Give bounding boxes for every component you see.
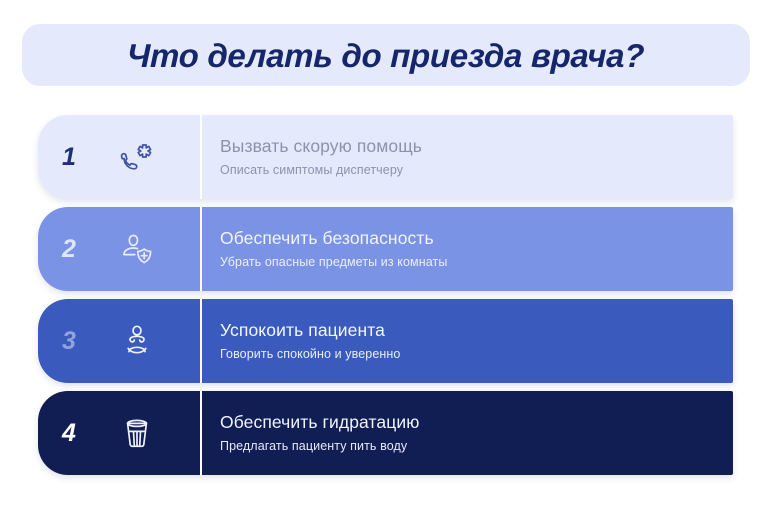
step-4-title: Обеспечить гидратацию [220,413,721,431]
step-2-body: Обеспечить безопасность Убрать опасные п… [220,207,721,291]
step-1-number: 1 [38,145,100,170]
step-2-divider [200,207,202,291]
step-row-3: 3 Успокоить пациента Говорить спокойно и… [38,299,733,383]
step-2-left-zone: 2 [38,207,200,291]
step-1-body: Вызвать скорую помощь Описать симптомы д… [220,115,721,199]
step-3-number: 3 [38,329,100,354]
step-2-title: Обеспечить безопасность [220,229,721,247]
step-4-body: Обеспечить гидратацию Предлагать пациент… [220,391,721,475]
step-3-subtitle: Говорить спокойно и уверенно [220,348,721,361]
step-1-subtitle: Описать симптомы диспетчеру [220,164,721,177]
step-4-left-zone: 4 [38,391,200,475]
step-1-divider [200,115,202,199]
step-row-2: 2 Обеспечить безопасность Убрать опасные… [38,207,733,291]
step-4-number: 4 [38,421,100,446]
step-3-divider [200,299,202,383]
step-row-1: 1 Вызвать скорую помощь Описать симптомы… [38,115,733,199]
page-title: Что делать до приезда врача? [127,39,645,72]
step-4-subtitle: Предлагать пациенту пить воду [220,440,721,453]
step-3-title: Успокоить пациента [220,321,721,339]
phone-medical-cross-icon [106,131,168,183]
step-2-subtitle: Убрать опасные предметы из комнаты [220,256,721,269]
step-row-4: 4 Обеспечить гидратацию Предлагать пацие… [38,391,733,475]
infographic-page: Что делать до приезда врача? 1 Вызвать с… [0,0,772,507]
person-shield-plus-icon [106,223,168,275]
step-3-body: Успокоить пациента Говорить спокойно и у… [220,299,721,383]
step-4-divider [200,391,202,475]
page-title-pill: Что делать до приезда врача? [22,24,750,86]
steps-list: 1 Вызвать скорую помощь Описать симптомы… [0,115,772,487]
meditating-person-icon [106,315,168,367]
step-2-number: 2 [38,237,100,262]
step-1-title: Вызвать скорую помощь [220,137,721,155]
step-1-left-zone: 1 [38,115,200,199]
step-3-left-zone: 3 [38,299,200,383]
water-glass-icon [106,407,168,459]
